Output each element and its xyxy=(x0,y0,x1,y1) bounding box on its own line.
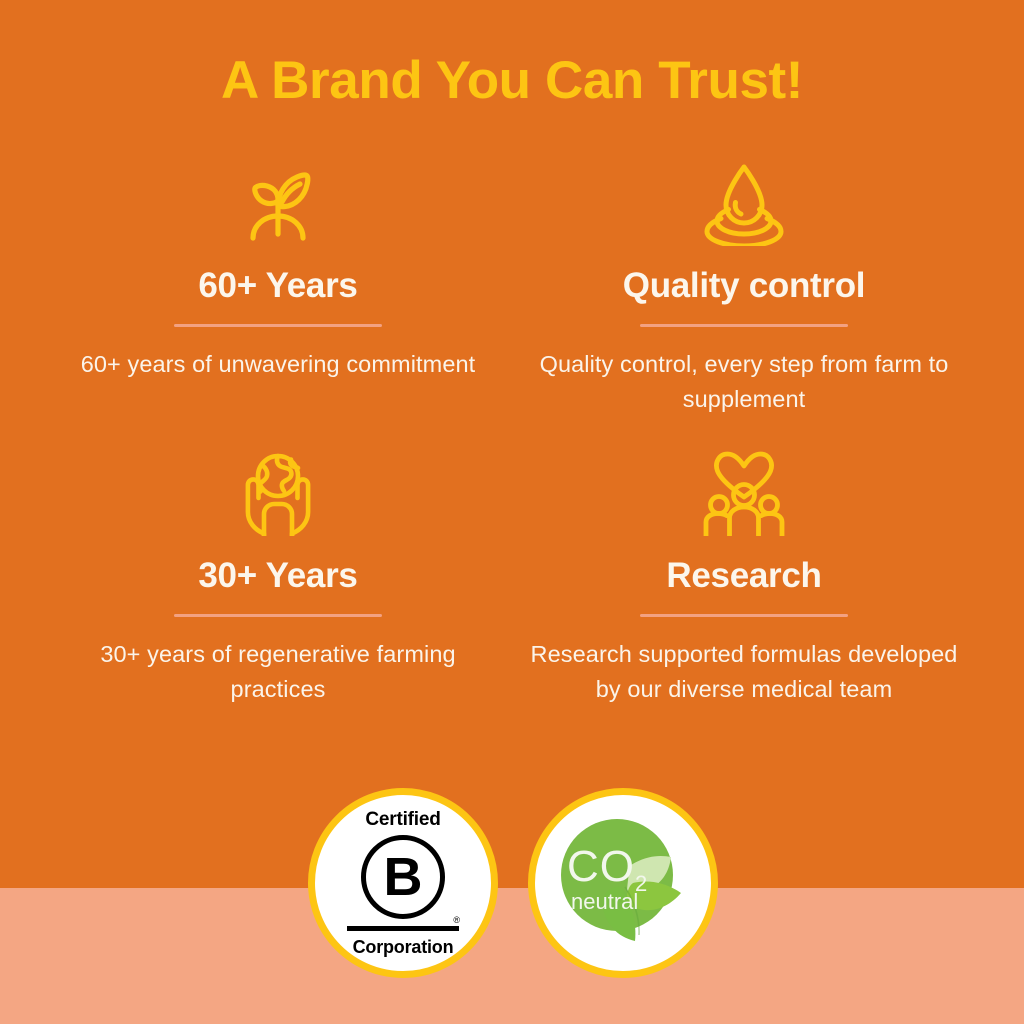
co2-neutral-artwork: CO 2 neutral xyxy=(535,795,711,971)
family-heart-icon xyxy=(529,450,959,536)
bcorp-rule: ® xyxy=(347,926,459,931)
feature-divider xyxy=(640,614,848,617)
certification-badges: Certified B ® Corporation CO 2 neutral xyxy=(0,788,1024,988)
page-title: A Brand You Can Trust! xyxy=(0,52,1024,110)
bcorp-certified-label: Certified xyxy=(339,810,467,829)
feature-heading: 30+ Years xyxy=(63,556,493,595)
feature-heading: 60+ Years xyxy=(63,266,493,305)
feature-card-years-60: 60+ Years 60+ years of unwavering commit… xyxy=(63,160,493,382)
bcorp-b-mark: B xyxy=(361,835,445,919)
feature-divider xyxy=(174,324,382,327)
feature-body: Quality control, every step from farm to… xyxy=(529,347,959,418)
hands-holding-globe-icon xyxy=(63,450,493,536)
water-droplet-icon xyxy=(529,160,959,246)
feature-grid: 60+ Years 60+ years of unwavering commit… xyxy=(0,160,1024,760)
certified-b-corporation-badge[interactable]: Certified B ® Corporation xyxy=(308,788,498,978)
feature-heading: Research xyxy=(529,556,959,595)
brand-trust-infographic: A Brand You Can Trust! 60+ Years 60+ yea… xyxy=(0,0,1024,1024)
svg-text:neutral: neutral xyxy=(571,889,638,914)
feature-divider xyxy=(640,324,848,327)
feature-card-quality-control: Quality control Quality control, every s… xyxy=(529,160,959,418)
seedling-icon xyxy=(63,160,493,246)
bcorp-corporation-label: Corporation xyxy=(339,938,467,956)
feature-body: Research supported formulas developed by… xyxy=(529,637,959,708)
feature-body: 30+ years of regenerative farming practi… xyxy=(63,637,493,708)
feature-heading: Quality control xyxy=(529,266,959,305)
registered-trademark-icon: ® xyxy=(453,916,460,925)
feature-divider xyxy=(174,614,382,617)
feature-body: 60+ years of unwavering commitment xyxy=(63,347,493,382)
feature-card-years-30: 30+ Years 30+ years of regenerative farm… xyxy=(63,450,493,708)
co2-neutral-badge[interactable]: CO 2 neutral CO 2 neutral xyxy=(528,788,718,978)
svg-text:CO: CO xyxy=(567,842,635,891)
feature-card-research: Research Research supported formulas dev… xyxy=(529,450,959,708)
